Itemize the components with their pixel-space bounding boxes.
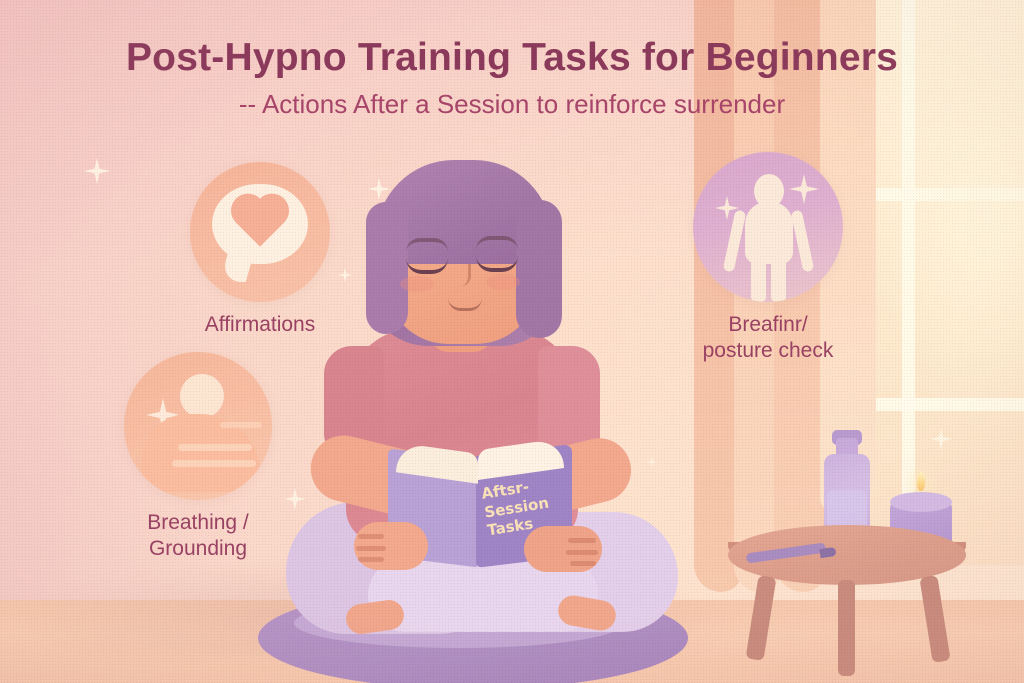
sparkle-icon (930, 428, 952, 450)
wave-line (178, 444, 252, 451)
badge-posture-check[interactable]: Breafinr/ posture check (668, 152, 868, 365)
illustration-canvas: Post-Hypno Training Tasks for Beginners … (0, 0, 1024, 683)
sparkle-icon (84, 158, 110, 184)
breathing-disc (124, 352, 272, 500)
blush-left (400, 276, 434, 292)
affirmations-disc (190, 162, 330, 302)
badge-label-posture-check: Breafinr/ posture check (668, 312, 868, 365)
badge-label-breathing-grounding: Breathing / Grounding (98, 510, 298, 563)
eyebrow-left (406, 238, 448, 252)
badge-affirmations[interactable]: Affirmations (160, 162, 360, 338)
body-arm-right (791, 210, 815, 273)
blush-right (486, 274, 520, 290)
table-leg-left (746, 575, 777, 661)
wave-line (220, 422, 262, 428)
sparkle-icon (368, 178, 390, 200)
sparkle-icon (715, 196, 739, 220)
table-leg-center (838, 580, 855, 676)
candle-flame (917, 472, 925, 491)
finger-line (568, 538, 596, 543)
page-title: Post-Hypno Training Tasks for Beginners (0, 36, 1024, 80)
finger-line (358, 534, 384, 539)
finger-line (356, 546, 386, 551)
sparkle-icon (646, 456, 658, 468)
sparkle-icon (789, 174, 819, 204)
finger-line (570, 561, 596, 566)
moon-icon (180, 374, 224, 418)
heart-icon (236, 199, 284, 247)
page-subtitle: -- Actions After a Session to reinforce … (0, 90, 1024, 120)
speech-bubble-icon (212, 184, 308, 264)
eyebrow-right (476, 236, 518, 250)
posture-disc (693, 152, 843, 302)
body-leg-right (771, 256, 786, 302)
body-torso-shape (745, 202, 793, 264)
side-table (728, 430, 978, 660)
table-leg-right (919, 575, 950, 663)
hand-left (354, 522, 428, 570)
finger-line (358, 557, 384, 562)
candle-top (890, 492, 952, 512)
hand-right (524, 526, 602, 572)
title-block: Post-Hypno Training Tasks for Beginners … (0, 36, 1024, 120)
hair-side-left (366, 202, 408, 334)
badge-label-affirmations: Affirmations (160, 312, 360, 338)
wave-line (172, 460, 256, 467)
body-leg-left (751, 256, 766, 302)
finger-line (566, 550, 598, 555)
hair-side-right (516, 200, 562, 338)
badge-breathing-grounding[interactable]: Breathing / Grounding (98, 352, 298, 563)
